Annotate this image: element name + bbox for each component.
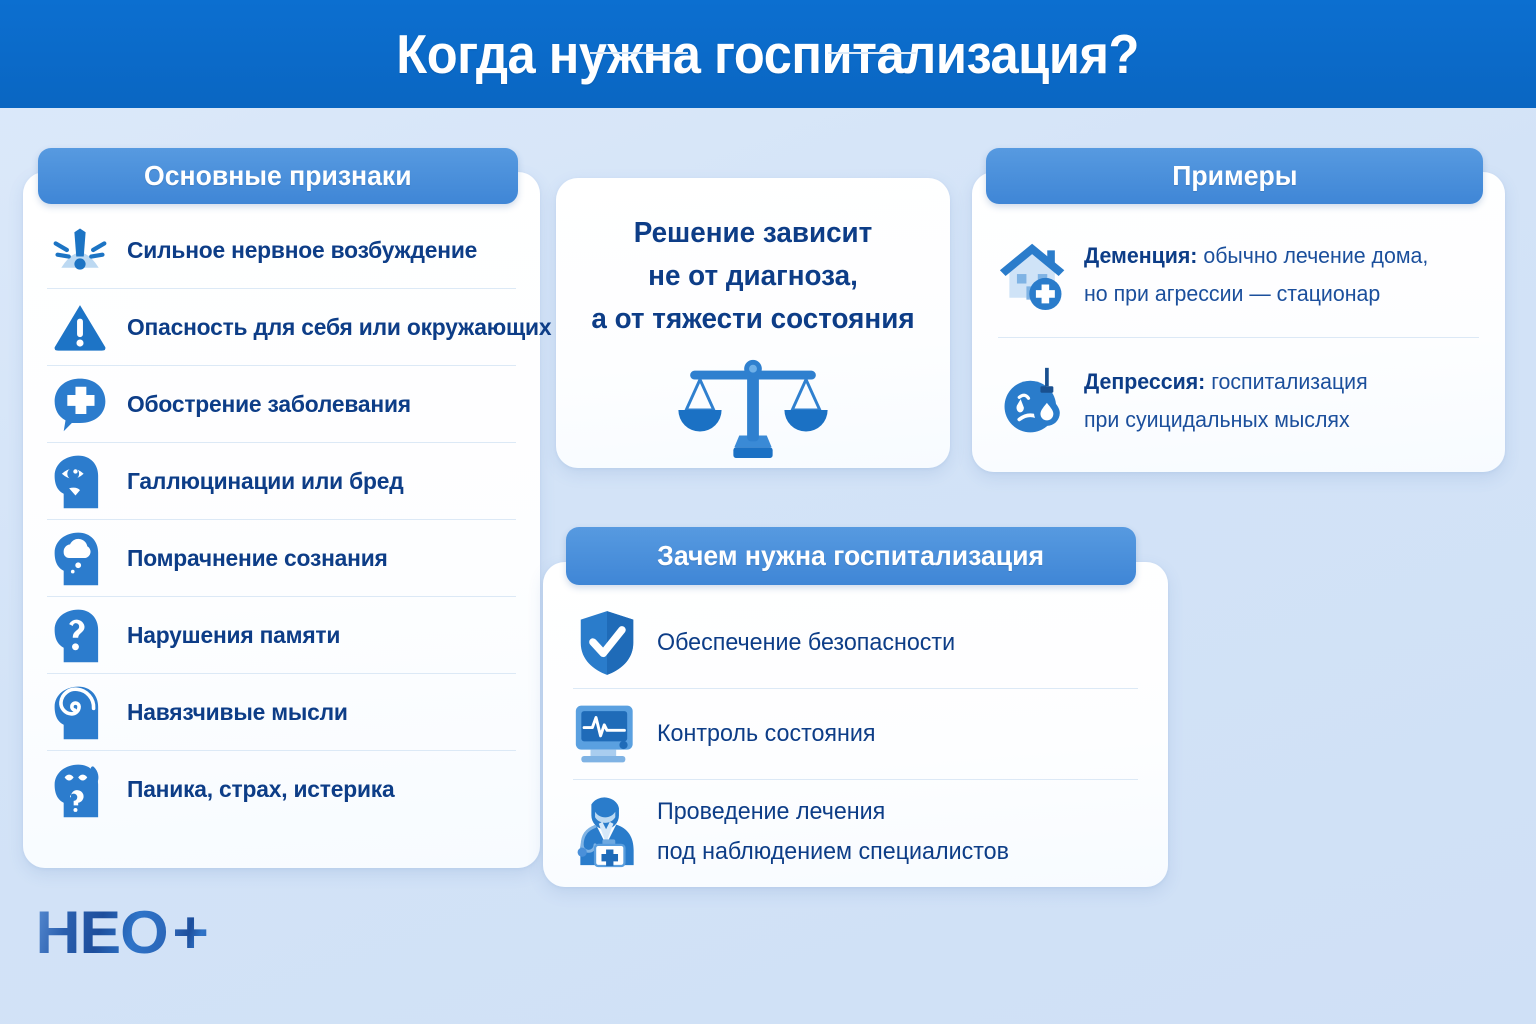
list-item-label: Помрачнение сознания: [127, 545, 388, 572]
list-item[interactable]: Обострение заболевания: [47, 366, 516, 443]
list-item-label: Опасность для себя или окружающих: [127, 314, 551, 341]
head-panic-face-icon: [47, 758, 113, 822]
decision-line-1: Решение зависит: [564, 212, 942, 255]
head-cloud-icon: [47, 526, 113, 590]
list-item[interactable]: Помрачнение сознания: [47, 520, 516, 597]
page-title: Когда нужна госпитализация?: [397, 22, 1140, 86]
medical-cross-bubble-icon: [47, 372, 113, 436]
list-item[interactable]: Контроль состояния: [573, 689, 1138, 780]
list-item[interactable]: Депрессия: госпитализация при суицидальн…: [998, 338, 1479, 464]
why-line-1: Проведение лечения: [657, 792, 1009, 832]
example-line2: но при агрессии — стационар: [1084, 275, 1428, 313]
warning-triangle-icon: [47, 295, 113, 359]
why-line-2: под наблюдением специалистов: [657, 832, 1009, 872]
example-lead: Деменция:: [1084, 243, 1197, 268]
doctor-medical-bag-icon: [573, 796, 641, 868]
balance-scales-icon: [556, 348, 950, 466]
example-line1-rest: обычно лечение дома,: [1197, 243, 1428, 268]
example-line1-rest: госпитализация: [1205, 369, 1367, 394]
why-panel-header: Зачем нужна госпитализация: [566, 527, 1136, 585]
list-item[interactable]: Проведение лечения под наблюдением специ…: [573, 780, 1138, 884]
decision-card-text: Решение зависит не от диагноза, а от тяж…: [556, 212, 950, 341]
list-item-label: Контроль состояния: [657, 714, 876, 754]
decision-divider-right: [828, 52, 916, 54]
exclamation-burst-icon: [47, 218, 113, 282]
house-medical-icon: [998, 237, 1070, 313]
why-list: Обеспечение безопасности Контроль состоя…: [543, 598, 1168, 884]
head-question-icon: [47, 603, 113, 667]
list-item[interactable]: Галлюцинации или бред: [47, 443, 516, 520]
example-line2: при суицидальных мыслях: [1084, 401, 1368, 439]
examples-list: Деменция: обычно лечение дома, но при аг…: [972, 212, 1505, 464]
list-item[interactable]: Нарушения памяти: [47, 597, 516, 674]
list-item-text: Деменция: обычно лечение дома, но при аг…: [1084, 237, 1428, 313]
list-item[interactable]: Навязчивые мысли: [47, 674, 516, 751]
list-item-label: Проведение лечения под наблюдением специ…: [657, 792, 1009, 872]
page-header-bar: Когда нужна госпитализация?: [0, 0, 1536, 108]
shield-check-icon: [573, 607, 641, 679]
list-item-label: Обеспечение безопасности: [657, 623, 955, 663]
why-panel-title: Зачем нужна госпитализация: [658, 540, 1045, 572]
decision-line-3: а от тяжести состояния: [564, 298, 942, 341]
head-spiral-icon: [47, 680, 113, 744]
head-eye-icon: [47, 449, 113, 513]
vital-monitor-icon: [573, 698, 641, 770]
list-item[interactable]: Обеспечение безопасности: [573, 598, 1138, 689]
list-item-label: Паника, страх, истерика: [127, 776, 394, 803]
list-item[interactable]: Опасность для себя или окружающих: [47, 289, 516, 366]
decision-line-2: не от диагноза,: [564, 255, 942, 298]
list-item-label: Сильное нервное возбуждение: [127, 237, 477, 264]
list-item[interactable]: Деменция: обычно лечение дома, но при аг…: [998, 212, 1479, 338]
signs-panel-header: Основные признаки: [38, 148, 518, 204]
examples-panel-header: Примеры: [986, 148, 1483, 204]
logo-wordmark: НЕО: [35, 898, 167, 967]
brand-logo: НЕО +: [38, 898, 207, 967]
list-item-text: Депрессия: госпитализация при суицидальн…: [1084, 363, 1368, 439]
list-item-label: Галлюцинации или бред: [127, 468, 403, 495]
list-item[interactable]: Сильное нервное возбуждение: [47, 212, 516, 289]
list-item[interactable]: Паника, страх, истерика: [47, 751, 516, 828]
list-item-label: Обострение заболевания: [127, 391, 411, 418]
signs-panel-title: Основные признаки: [144, 160, 412, 192]
list-item-label: Нарушения памяти: [127, 622, 340, 649]
examples-panel-title: Примеры: [1172, 160, 1297, 192]
example-lead: Депрессия:: [1084, 369, 1205, 394]
list-item-label: Навязчивые мысли: [127, 699, 348, 726]
signs-list: Сильное нервное возбуждение Опасность дл…: [23, 212, 540, 828]
decision-divider-left: [590, 52, 688, 54]
sad-face-teardrop-icon: [998, 363, 1070, 439]
logo-plus-icon: +: [172, 898, 207, 967]
